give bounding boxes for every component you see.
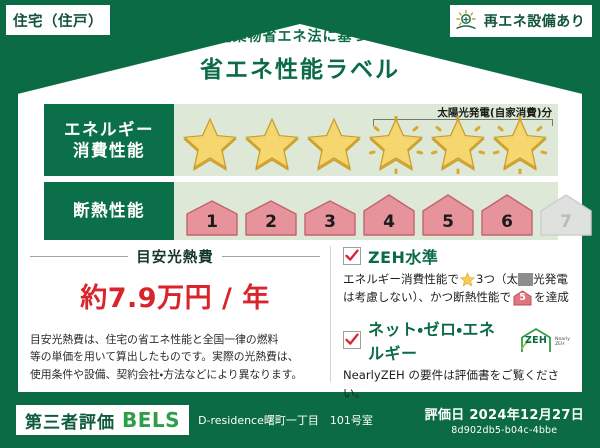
evaluation-id: 8d902db5-b04c-4bbe	[425, 425, 584, 436]
zeh-body-mid: 3つ（太	[476, 271, 518, 289]
energy-performance-row: エネルギー 消費性能 太陽光発電(自家消費)分	[44, 104, 558, 176]
building-type-tag: 住宅（住戸）	[6, 5, 110, 35]
star-rating	[180, 116, 550, 174]
zeh-standard-line-2: は考慮しない）、かつ断熱性能で 5 を達成	[343, 289, 570, 307]
zeh-body-post: 光発電	[533, 271, 568, 289]
net-zero-energy-item: ネット・ゼロ・エネルギー ZEH Nearly ZEH	[343, 316, 570, 403]
cost-note-line-2: 等の単価を用いて算出したものです。実際の光熱費は、	[30, 348, 320, 365]
utility-cost-heading-text: 目安光熱費	[136, 246, 214, 267]
star-filled	[242, 116, 302, 174]
star-solar	[366, 116, 426, 174]
insulation-key-text: 断熱性能	[73, 200, 145, 221]
insulation-performance-row: 断熱性能 1 2 3 4 5 6	[44, 182, 558, 240]
zeh-standard-header: ZEH水準	[343, 244, 570, 268]
redaction-block	[518, 273, 533, 286]
net-zero-energy-header: ネット・ゼロ・エネルギー ZEH Nearly ZEH	[343, 316, 570, 364]
heading-rule-right	[222, 256, 320, 257]
heading-rule-left	[30, 256, 128, 257]
utility-cost-section: 目安光熱費 約7.9万円 / 年 目安光熱費は、住宅の省エネ性能と全国一律の燃料…	[30, 244, 330, 384]
net-zero-energy-checkbox[interactable]	[343, 331, 361, 349]
energy-key-line2: 消費性能	[73, 140, 145, 161]
insulation-level-1: 1	[184, 200, 240, 236]
star-solar	[490, 116, 550, 174]
utility-cost-note: 目安光熱費は、住宅の省エネ性能と全国一律の燃料 等の単価を用いて算出したものです…	[30, 331, 320, 383]
insulation-level-number: 6	[479, 212, 535, 232]
zeh-body-line2-pre: は考慮しない）、かつ断熱性能で	[343, 289, 511, 307]
insulation-level-number: 3	[302, 212, 358, 232]
check-icon	[345, 249, 359, 263]
zeh-body-line2-post: を達成	[534, 289, 569, 307]
energy-performance-label: エネルギー 消費性能	[44, 104, 174, 176]
bels-en-text: BELS	[122, 408, 180, 432]
building-type-text: 住宅（住戸）	[13, 10, 103, 31]
utility-cost-heading: 目安光熱費	[30, 246, 320, 267]
sun-icon	[453, 9, 479, 33]
renewable-equipment-text: 再エネ設備あり	[484, 11, 586, 31]
net-zero-energy-title: ネット・ゼロ・エネルギー	[368, 316, 507, 364]
zeh-logo-sub2: ZEH	[555, 342, 570, 348]
insulation-level-scale: 1 2 3 4 5 6 7	[184, 194, 594, 236]
zeh-standard-checkbox[interactable]	[343, 247, 361, 265]
evaluation-meta: 評価日 2024年12月27日 8d902db5-b04c-4bbe	[425, 404, 584, 436]
insulation-level-2: 2	[243, 200, 299, 236]
lower-section: 目安光熱費 約7.9万円 / 年 目安光熱費は、住宅の省エネ性能と全国一律の燃料…	[30, 244, 570, 384]
zeh-house-icon: ZEH	[519, 327, 553, 353]
zeh-logo: ZEH Nearly ZEH	[519, 327, 570, 353]
insulation-performance-label: 断熱性能	[44, 182, 174, 240]
insulation-level-3: 3	[302, 200, 358, 236]
star-filled	[304, 116, 364, 174]
star-filled	[180, 116, 240, 174]
bels-badge: 第三者評価 BELS	[16, 405, 189, 435]
section-divider	[330, 246, 331, 382]
zeh-standard-item: ZEH水準 エネルギー消費性能で 3つ（太 光発電	[343, 244, 570, 307]
inline-star-icon	[460, 272, 475, 287]
utility-cost-value: 約7.9万円 / 年	[30, 276, 320, 315]
energy-performance-label: 住宅（住戸） 再エネ設備あり 建築物省エネ法に基づく 省エネ性能	[0, 0, 600, 448]
title-main: 省エネ性能ラベル	[0, 50, 600, 84]
zeh-body-pre: エネルギー消費性能で	[343, 271, 459, 289]
evaluation-date: 評価日 2024年12月27日	[425, 404, 584, 423]
insulation-level-number: 1	[184, 212, 240, 232]
energy-performance-value: 太陽光発電(自家消費)分	[174, 104, 558, 176]
insulation-level-5: 5	[420, 194, 476, 236]
insulation-performance-value: 1 2 3 4 5 6 7	[174, 182, 558, 240]
cost-note-line-1: 目安光熱費は、住宅の省エネ性能と全国一律の燃料	[30, 331, 320, 348]
insulation-level-4: 4	[361, 194, 417, 236]
inline-house-level: 5	[513, 291, 532, 306]
zeh-standard-body: エネルギー消費性能で 3つ（太 光発電 は考慮しない）、かつ断熱性能で	[343, 271, 570, 307]
performance-rows: エネルギー 消費性能 太陽光発電(自家消費)分	[44, 104, 558, 246]
zeh-logo-subtext: Nearly ZEH	[555, 337, 570, 353]
bels-jp-text: 第三者評価	[25, 408, 115, 433]
insulation-level-number: 7	[538, 212, 594, 232]
star-solar	[428, 116, 488, 174]
zeh-logo-text: ZEH	[519, 335, 553, 346]
building-name: D-residence曙町一丁目 101号室	[198, 412, 373, 428]
zeh-standard-title: ZEH水準	[368, 244, 438, 268]
insulation-level-number: 5	[420, 212, 476, 232]
check-icon	[345, 333, 359, 347]
inline-house-badge: 5	[513, 290, 532, 306]
cost-note-line-3: 使用条件や設備、契約会社・方法などにより異なります。	[30, 366, 320, 383]
zeh-standard-line-1: エネルギー消費性能で 3つ（太 光発電	[343, 271, 570, 289]
renewable-equipment-badge: 再エネ設備あり	[450, 5, 592, 37]
label-footer: 第三者評価 BELS D-residence曙町一丁目 101号室 評価日 20…	[0, 392, 600, 448]
energy-key-line1: エネルギー	[64, 119, 154, 140]
insulation-level-number: 4	[361, 212, 417, 232]
insulation-level-6: 6	[479, 194, 535, 236]
insulation-level-number: 2	[243, 212, 299, 232]
insulation-level-7: 7	[538, 194, 594, 236]
certification-section: ZEH水準 エネルギー消費性能で 3つ（太 光発電	[343, 244, 570, 384]
